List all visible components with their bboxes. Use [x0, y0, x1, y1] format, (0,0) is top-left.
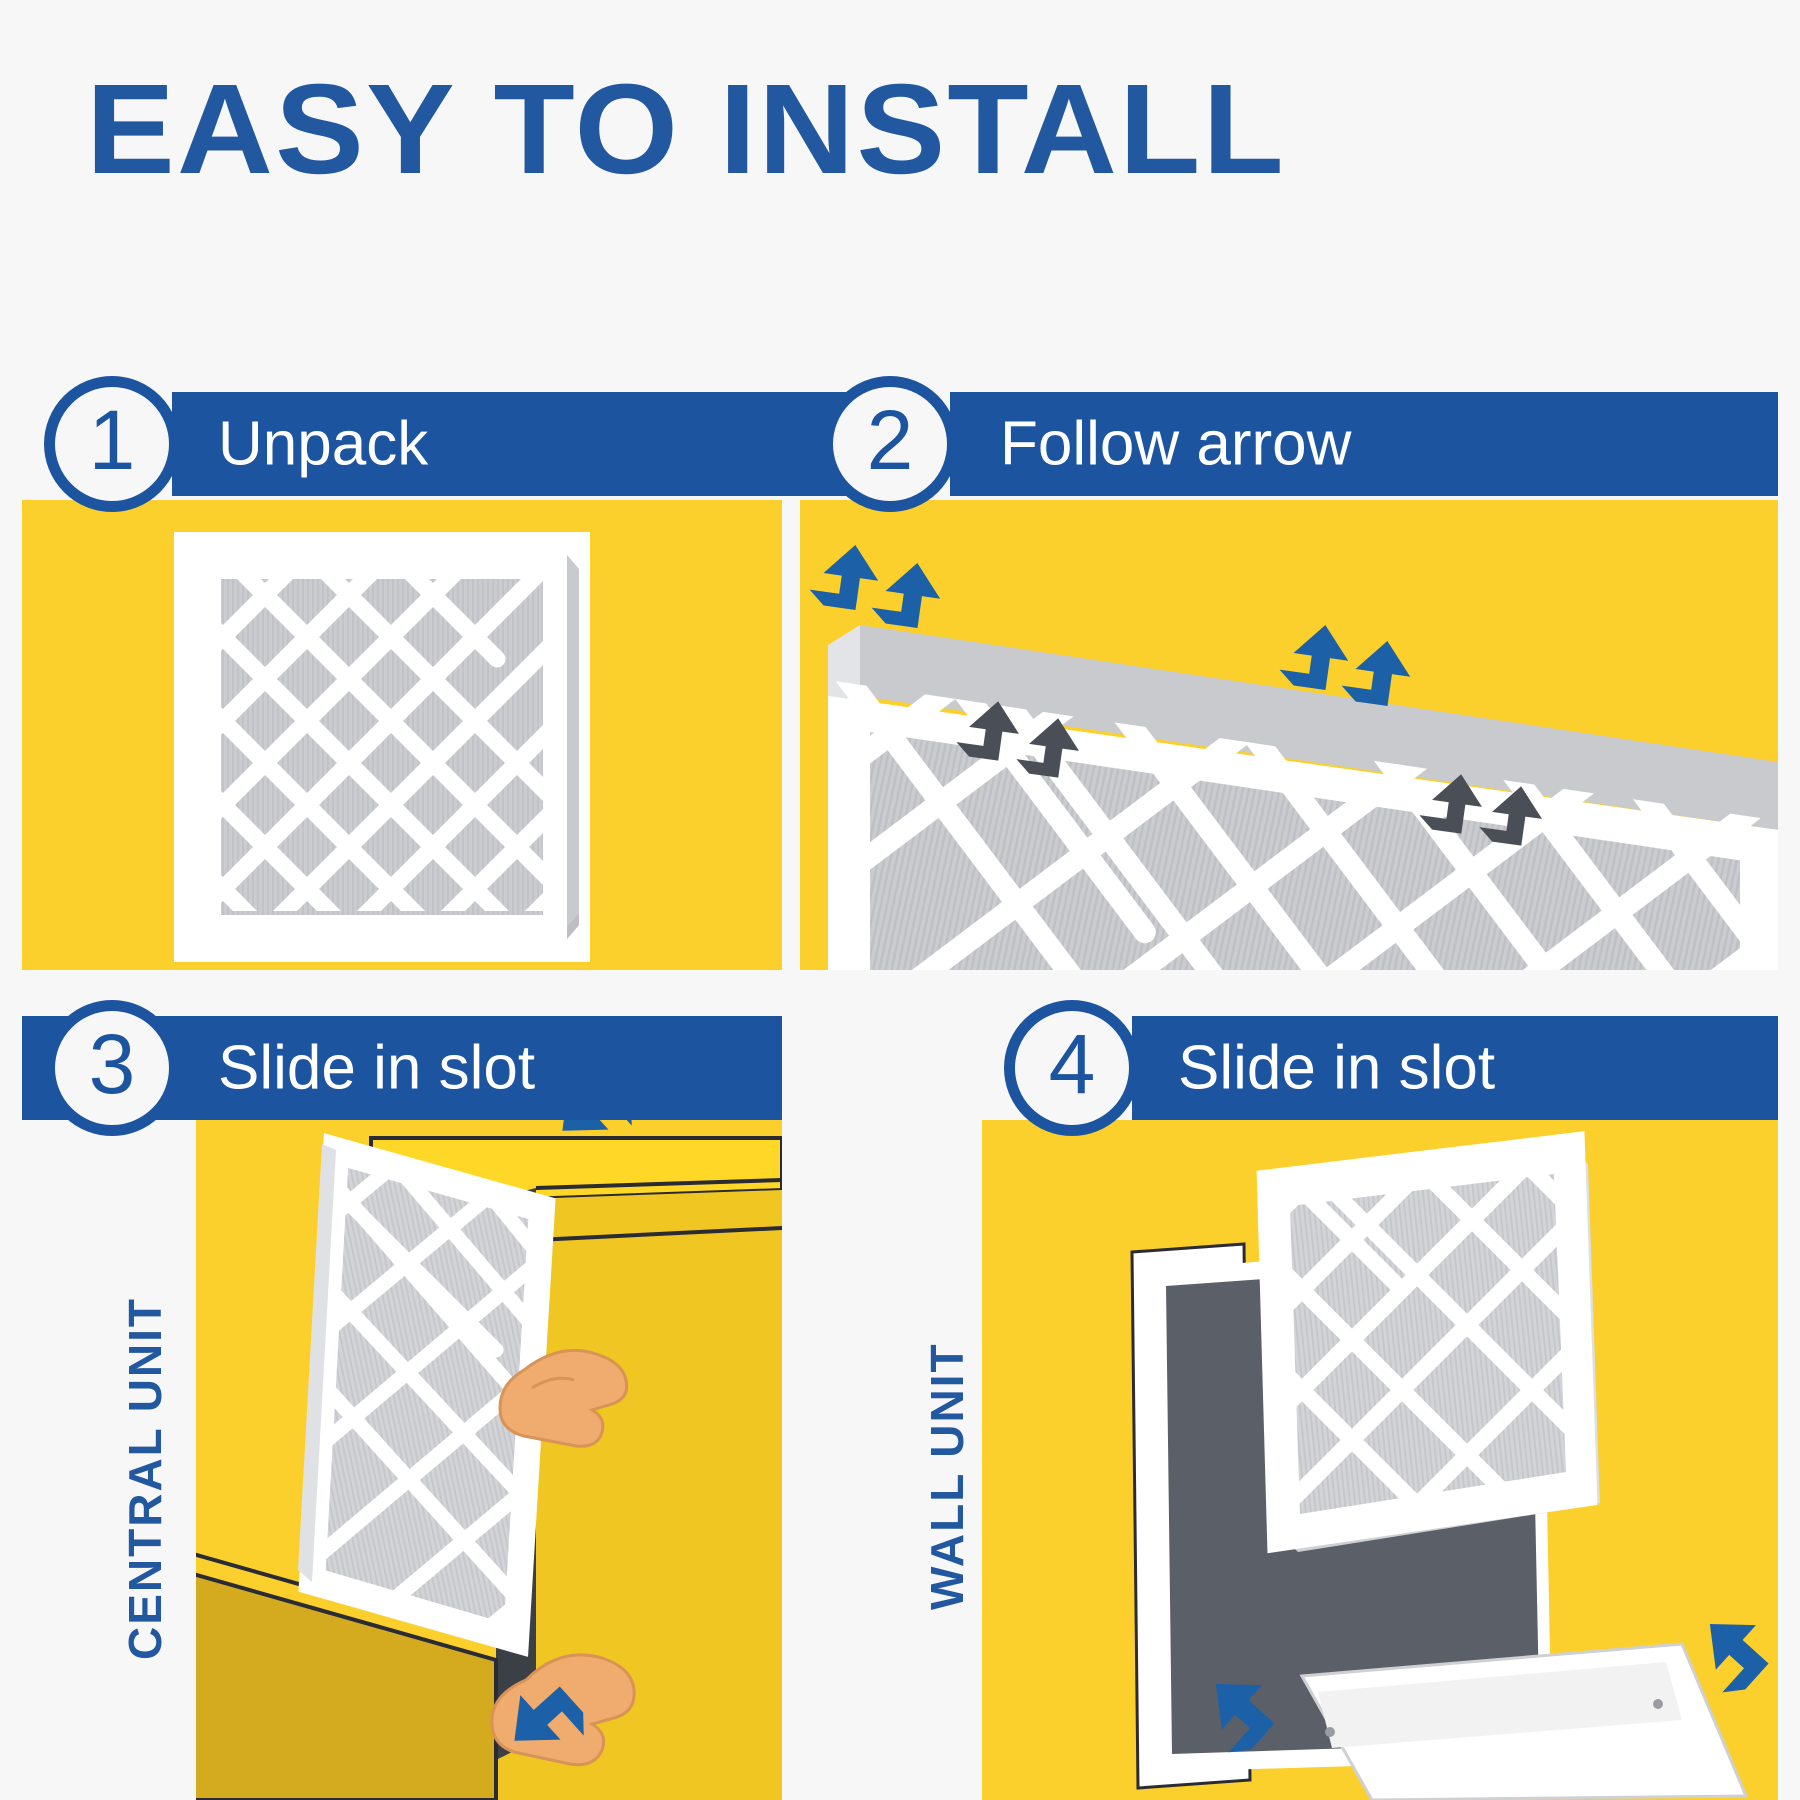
step-3-illustration-panel — [196, 1120, 782, 1800]
step-3-header[interactable]: 3 Slide in slot — [22, 1016, 782, 1120]
airflow-arrow-blue-pair-left — [808, 540, 945, 631]
central-unit-installation-illustration — [196, 1120, 782, 1800]
step-1-label: Unpack — [218, 409, 428, 480]
step-4-label: Slide in slot — [1178, 1033, 1495, 1104]
step-2-number-badge: 2 — [822, 376, 958, 512]
wall-unit-installation-illustration — [982, 1120, 1778, 1800]
step-2-header[interactable]: 2 Follow arrow — [800, 392, 1778, 496]
step-2-label: Follow arrow — [1000, 409, 1351, 480]
step-2-number: 2 — [867, 398, 914, 482]
step-1-number-badge: 1 — [44, 376, 180, 512]
step-4-illustration-panel — [982, 1120, 1778, 1800]
flat-air-filter-illustration — [22, 500, 782, 970]
page-title: EASY TO INSTALL — [86, 66, 1286, 194]
step-3-label: Slide in slot — [218, 1033, 535, 1104]
step-1-illustration-panel — [22, 500, 782, 970]
step-3-number: 3 — [89, 1022, 136, 1106]
step-1-header[interactable]: 1 Unpack — [22, 392, 782, 496]
step-4-header[interactable]: 4 Slide in slot — [982, 1016, 1778, 1120]
step-4-number: 4 — [1049, 1022, 1096, 1106]
step-3-number-badge: 3 — [44, 1000, 180, 1136]
step-1-number: 1 — [89, 398, 136, 482]
wall-unit-side-label: WALL UNIT — [920, 1342, 974, 1610]
infographic-canvas: EASY TO INSTALL — [0, 0, 1800, 1800]
step-2-illustration-panel — [800, 500, 1778, 970]
step-4-number-badge: 4 — [1004, 1000, 1140, 1136]
angled-air-filter-illustration — [800, 500, 1778, 970]
central-unit-side-label: CENTRAL UNIT — [118, 1297, 172, 1660]
